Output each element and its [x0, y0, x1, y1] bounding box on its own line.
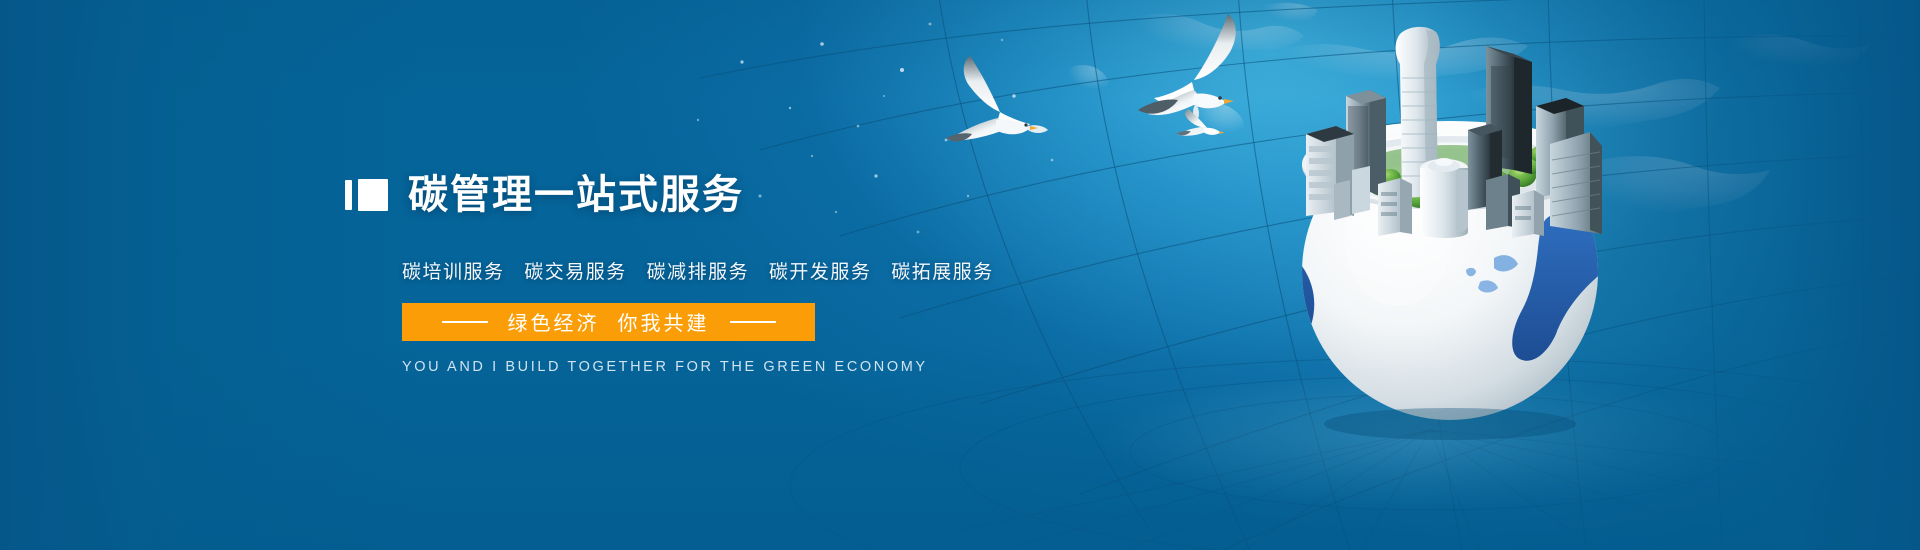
slogan-phrase-0: 绿色经济	[508, 313, 600, 335]
service-list: 碳培训服务 碳交易服务 碳减排服务 碳开发服务 碳拓展服务	[402, 257, 1065, 284]
service-item-4[interactable]: 碳拓展服务	[891, 262, 994, 283]
seagull-icon	[1176, 109, 1224, 135]
slogan-rule-right	[730, 321, 776, 323]
title-row: 碳管理一站式服务	[345, 148, 1065, 242]
promo-banner: 碳管理一站式服务 碳培训服务 碳交易服务 碳减排服务 碳开发服务 碳拓展服务 绿…	[0, 0, 1920, 550]
service-item-1[interactable]: 碳交易服务	[524, 262, 627, 283]
banner-content: 碳管理一站式服务 碳培训服务 碳交易服务 碳减排服务 碳开发服务 碳拓展服务 绿…	[345, 148, 1065, 375]
service-item-0[interactable]: 碳培训服务	[402, 262, 505, 283]
slogan-phrase-1: 你我共建	[618, 313, 710, 335]
english-tagline: YOU AND I BUILD TOGETHER FOR THE GREEN E…	[402, 359, 1065, 375]
seagull-icon	[1138, 14, 1236, 122]
service-item-3[interactable]: 碳开发服务	[769, 262, 872, 283]
page-title: 碳管理一站式服务	[408, 175, 744, 215]
double-bar-marker-icon	[345, 179, 388, 211]
slogan-bar: 绿色经济你我共建	[402, 303, 815, 341]
service-item-2[interactable]: 碳减排服务	[647, 262, 750, 283]
seagull-icon	[946, 56, 1048, 141]
slogan-rule-left	[442, 321, 488, 323]
slogan-text: 绿色经济你我共建	[508, 307, 710, 336]
globe-city-artwork	[1250, 20, 1650, 440]
